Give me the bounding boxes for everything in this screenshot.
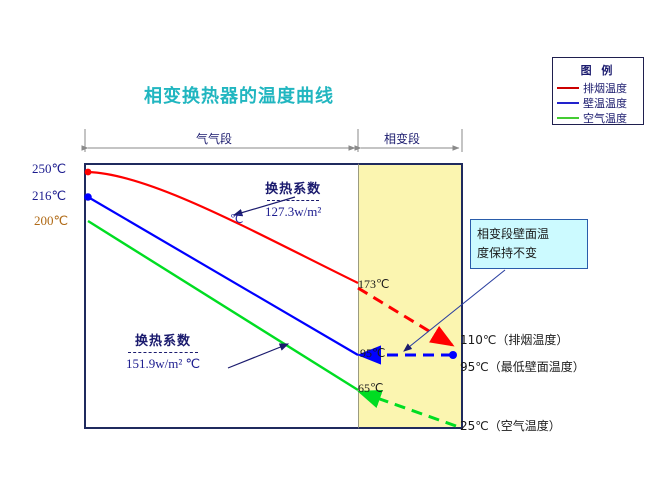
coef-2-value: 151.9w/m² ℃ xyxy=(126,356,200,372)
annotation-heat-transfer-coef-2: 换热系数 151.9w/m² ℃ xyxy=(126,330,200,372)
page-title: 相变换热器的温度曲线 xyxy=(144,82,334,108)
legend-swatch-flue xyxy=(557,87,579,89)
label-flue-gas-outlet: 110℃（排烟温度） xyxy=(460,331,568,348)
y-axis-label-200: 200℃ xyxy=(34,213,68,229)
legend-item-air: 空气温度 xyxy=(553,110,643,125)
label-65c: 65℃ xyxy=(358,381,383,396)
section-label-gas: 气气段 xyxy=(196,130,232,147)
legend-label-flue: 排烟温度 xyxy=(583,80,627,96)
legend-swatch-air xyxy=(557,117,579,119)
y-axis-label-216: 216℃ xyxy=(32,188,66,204)
coef-1-unit: ℃ xyxy=(230,212,243,227)
legend-swatch-wall xyxy=(557,102,579,104)
legend-label-wall: 壁温温度 xyxy=(583,95,627,111)
label-95c-inner: 95℃ xyxy=(360,346,385,361)
coef-2-title: 换热系数 xyxy=(126,330,200,349)
label-air-inlet: 25℃（空气温度） xyxy=(460,417,561,434)
coef-1-divider xyxy=(267,200,319,201)
y-axis-label-250: 250℃ xyxy=(32,161,66,177)
annotation-heat-transfer-coef-1: 换热系数 127.3w/m² xyxy=(265,178,321,220)
legend-item-wall: 壁温温度 xyxy=(553,95,643,110)
legend-title: 图 例 xyxy=(553,62,643,78)
coef-1-value: 127.3w/m² xyxy=(265,204,321,220)
coef-1-title: 换热系数 xyxy=(265,178,321,197)
callout-line-1: 相变段壁面温 xyxy=(477,225,581,244)
legend-label-air: 空气温度 xyxy=(583,110,627,126)
legend-item-flue: 排烟温度 xyxy=(553,80,643,95)
coef-2-divider xyxy=(128,352,198,353)
callout-line-2: 度保持不变 xyxy=(477,244,581,263)
section-label-phase: 相变段 xyxy=(384,130,420,147)
label-min-wall-temp: 95℃（最低壁面温度） xyxy=(460,358,585,375)
legend: 图 例 排烟温度 壁温温度 空气温度 xyxy=(552,57,644,125)
label-173c: 173℃ xyxy=(358,277,389,292)
callout-phase-wall-temp: 相变段壁面温 度保持不变 xyxy=(470,219,588,269)
chart-canvas: 相变换热器的温度曲线 图 例 排烟温度 壁温温度 空气温度 气气段 相变段 25… xyxy=(0,0,652,483)
